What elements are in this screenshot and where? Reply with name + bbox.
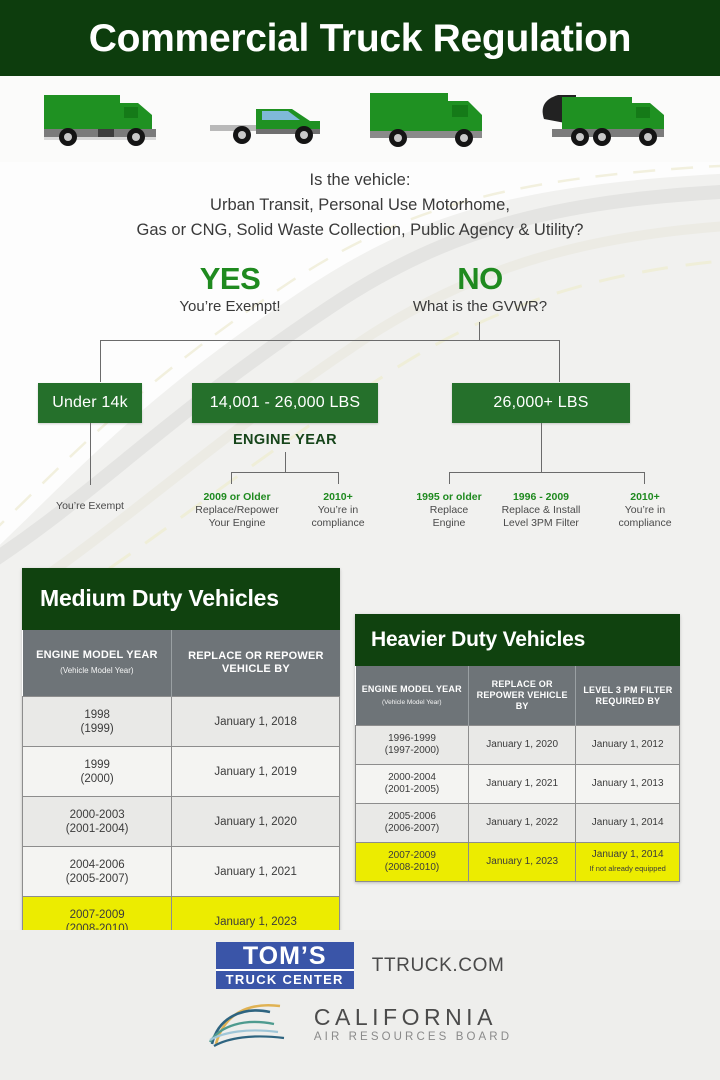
connector-heavy-right-drop	[644, 472, 645, 484]
cell-engine-year: 2000-2003 (2001-2004)	[23, 797, 172, 847]
question-line-3: Gas or CNG, Solid Waste Collection, Publ…	[0, 218, 720, 243]
cell-filter-by: January 1, 2014	[576, 804, 680, 843]
leaf-2009-or-older-line1: Replace/Repower	[188, 504, 286, 517]
leaf-heavy-2010-plus-title: 2010+	[606, 490, 684, 504]
yes-no-row: YES You’re Exempt! NO What is the GVWR?	[0, 262, 720, 332]
table-header-row: ENGINE MODEL YEAR (Vehicle Model Year) R…	[23, 630, 340, 697]
carb-logo-text: CALIFORNIA AIR RESOURCES BOARD	[314, 1004, 512, 1044]
connector-mid-stem	[285, 452, 286, 472]
branch-yes-sub: You’re Exempt!	[150, 296, 310, 318]
cell-replace-by: January 1, 2020	[469, 726, 576, 765]
table-row-highlighted: 2007-2009 (2008-2010) January 1, 2023 Ja…	[356, 843, 680, 882]
cell-replace-by: January 1, 2020	[172, 797, 340, 847]
leaf-2009-or-older-line2: Your Engine	[188, 517, 286, 530]
heavier-col-pm-filter: LEVEL 3 PM FILTER REQUIRED BY	[576, 666, 680, 726]
leaf-heavy-2010-plus-line2: compliance	[606, 517, 684, 530]
weight-box-under-14k-label: Under 14k	[52, 394, 128, 412]
connector-heavy-stem	[541, 423, 542, 472]
table-row: 1999 (2000) January 1, 2019	[23, 747, 340, 797]
connector-drop-heavy	[559, 340, 560, 382]
cell-engine-year: 2004-2006 (2005-2007)	[23, 847, 172, 897]
heavier-duty-table-grid: ENGINE MODEL YEAR (Vehicle Model Year) R…	[355, 666, 680, 882]
toms-truck-center-logo[interactable]: TOM’S TRUCK CENTER	[216, 942, 354, 989]
heavier-col-replace-repower: REPLACE OR REPOWER VEHICLE BY	[469, 666, 576, 726]
heavier-duty-table: Heavier Duty Vehicles ENGINE MODEL YEAR …	[355, 614, 680, 882]
leaf-mid-2010-plus-line1: You’re in	[299, 504, 377, 517]
cell-engine-year: 1999 (2000)	[23, 747, 172, 797]
flatbed-pickup-icon	[206, 89, 336, 149]
branch-no: NO What is the GVWR?	[390, 262, 570, 318]
infographic-page: Commercial Truck Regulation	[0, 0, 720, 1080]
connector-under14-to-exempt	[90, 423, 91, 485]
carb-logo-row: CALIFORNIA AIR RESOURCES BOARD	[0, 1000, 720, 1048]
table-row: 2004-2006 (2005-2007) January 1, 2021	[23, 847, 340, 897]
website-url[interactable]: TTRUCK.COM	[372, 955, 505, 977]
table-header-row: ENGINE MODEL YEAR (Vehicle Model Year) R…	[356, 666, 680, 726]
cell-engine-year: 2005-2006 (2006-2007)	[356, 804, 469, 843]
footer: TOM’S TRUCK CENTER TTRUCK.COM CALIFORNIA…	[0, 930, 720, 1080]
connector-no-stem	[479, 322, 480, 340]
toms-logo-row: TOM’S TRUCK CENTER TTRUCK.COM	[0, 942, 720, 989]
leaf-mid-2010-plus: 2010+ You’re in compliance	[299, 490, 377, 530]
toms-logo-bottom-text: TRUCK CENTER	[216, 969, 354, 989]
cell-engine-year: 2007-2009 (2008-2010)	[356, 843, 469, 882]
cell-filter-by: January 1, 2012	[576, 726, 680, 765]
table-row: 2005-2006 (2006-2007) January 1, 2022 Ja…	[356, 804, 680, 843]
heavier-col-engine-model-year: ENGINE MODEL YEAR (Vehicle Model Year)	[356, 666, 469, 726]
cell-replace-by: January 1, 2021	[469, 765, 576, 804]
leaf-mid-2010-plus-line2: compliance	[299, 517, 377, 530]
carb-swoosh-icon	[208, 1000, 304, 1048]
cell-filter-by: January 1, 2014 If not already equipped	[576, 843, 680, 882]
truck-illustration-band	[0, 76, 720, 162]
leaf-2009-or-older-title: 2009 or Older	[188, 490, 286, 504]
medium-duty-table-title: Medium Duty Vehicles	[22, 568, 340, 630]
weight-box-14001-26000[interactable]: 14,001 - 26,000 LBS	[192, 383, 378, 423]
cell-filter-by: January 1, 2013	[576, 765, 680, 804]
cell-engine-year: 2000-2004 (2001-2005)	[356, 765, 469, 804]
leaf-1995-or-older-line2: Engine	[409, 517, 489, 530]
garbage-truck-icon	[532, 89, 682, 149]
delivery-truck-icon	[364, 89, 504, 149]
table-row: 2000-2003 (2001-2004) January 1, 2020	[23, 797, 340, 847]
leaf-exempt-label: You’re Exempt	[56, 500, 124, 512]
leaf-1996-2009: 1996 - 2009 Replace & Install Level 3PM …	[491, 490, 591, 530]
connector-main-bar	[100, 340, 560, 341]
leaf-1996-2009-line1: Replace & Install	[491, 504, 591, 517]
cell-replace-by: January 1, 2023	[469, 843, 576, 882]
connector-mid-right-drop	[338, 472, 339, 484]
question-line-2: Urban Transit, Personal Use Motorhome,	[0, 193, 720, 218]
table-row: 2000-2004 (2001-2005) January 1, 2021 Ja…	[356, 765, 680, 804]
page-header: Commercial Truck Regulation	[0, 0, 720, 76]
leaf-heavy-2010-plus: 2010+ You’re in compliance	[606, 490, 684, 530]
connector-mid-bar	[231, 472, 339, 473]
carb-subtitle: AIR RESOURCES BOARD	[314, 1030, 512, 1044]
leaf-1995-or-older-line1: Replace	[409, 504, 489, 517]
cell-replace-by: January 1, 2022	[469, 804, 576, 843]
weight-box-26000-plus-label: 26,000+ LBS	[493, 394, 588, 412]
question-line-1: Is the vehicle:	[0, 168, 720, 193]
medium-col-engine-model-year: ENGINE MODEL YEAR (Vehicle Model Year)	[23, 630, 172, 697]
box-truck-icon	[38, 89, 178, 149]
weight-box-under-14k[interactable]: Under 14k	[38, 383, 142, 423]
medium-duty-table-grid: ENGINE MODEL YEAR (Vehicle Model Year) R…	[22, 630, 340, 947]
branch-no-sub: What is the GVWR?	[390, 296, 570, 318]
toms-logo-top-text: TOM’S	[216, 942, 354, 969]
medium-duty-table: Medium Duty Vehicles ENGINE MODEL YEAR (…	[22, 568, 340, 947]
branch-yes-label: YES	[150, 262, 310, 296]
cell-replace-by: January 1, 2019	[172, 747, 340, 797]
weight-box-26000-plus[interactable]: 26,000+ LBS	[452, 383, 630, 423]
branch-no-label: NO	[390, 262, 570, 296]
engine-year-label: ENGINE YEAR	[192, 432, 378, 448]
cell-engine-year: 1998 (1999)	[23, 697, 172, 747]
medium-col-replace-repower: REPLACE OR REPOWER VEHICLE BY	[172, 630, 340, 697]
leaf-1996-2009-title: 1996 - 2009	[491, 490, 591, 504]
connector-heavy-left-drop	[449, 472, 450, 484]
leaf-1995-or-older: 1995 or older Replace Engine	[409, 490, 489, 530]
decision-question: Is the vehicle: Urban Transit, Personal …	[0, 168, 720, 243]
connector-drop-under14	[100, 340, 101, 382]
table-row: 1998 (1999) January 1, 2018	[23, 697, 340, 747]
connector-mid-left-drop	[231, 472, 232, 484]
leaf-mid-2010-plus-title: 2010+	[299, 490, 377, 504]
leaf-2009-or-older: 2009 or Older Replace/Repower Your Engin…	[188, 490, 286, 530]
cell-engine-year: 1996-1999 (1997-2000)	[356, 726, 469, 765]
weight-box-14001-26000-label: 14,001 - 26,000 LBS	[210, 394, 361, 412]
branch-yes: YES You’re Exempt!	[150, 262, 310, 318]
cell-replace-by: January 1, 2021	[172, 847, 340, 897]
leaf-exempt: You’re Exempt	[38, 500, 142, 512]
leaf-1996-2009-line2: Level 3PM Filter	[491, 517, 591, 530]
carb-title: CALIFORNIA	[314, 1004, 512, 1030]
connector-heavy-bar	[449, 472, 645, 473]
leaf-heavy-2010-plus-line1: You’re in	[606, 504, 684, 517]
table-row: 1996-1999 (1997-2000) January 1, 2020 Ja…	[356, 726, 680, 765]
heavier-duty-table-title: Heavier Duty Vehicles	[355, 614, 680, 666]
cell-replace-by: January 1, 2018	[172, 697, 340, 747]
leaf-1995-or-older-title: 1995 or older	[409, 490, 489, 504]
page-title: Commercial Truck Regulation	[89, 19, 631, 58]
